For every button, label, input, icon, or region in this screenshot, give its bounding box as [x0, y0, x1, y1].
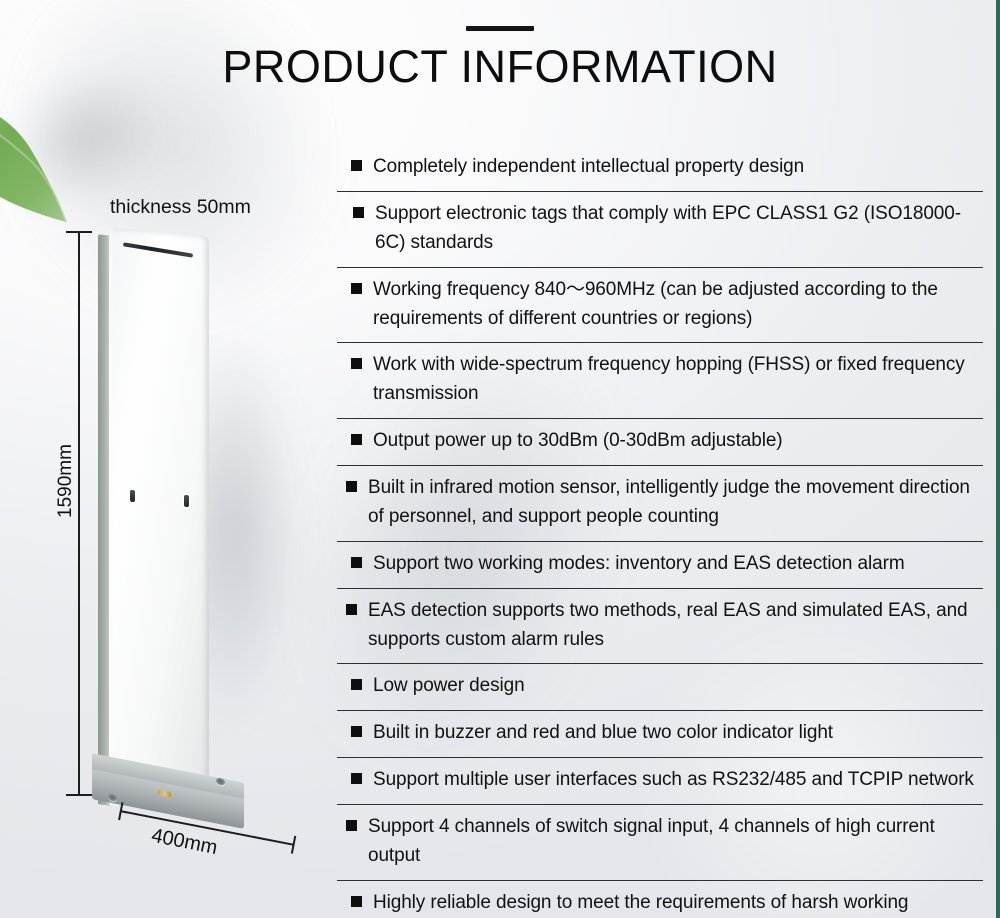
height-dimension-tick-bottom [66, 794, 92, 796]
indicator-led-icon-left [130, 490, 135, 502]
spec-item-text: Low power design [373, 672, 983, 701]
title-divider-icon [466, 26, 534, 31]
square-bullet-icon [351, 160, 362, 171]
spec-item: Built in infrared motion sensor, intelli… [337, 466, 983, 542]
square-bullet-icon [351, 773, 362, 784]
square-bullet-icon [351, 726, 362, 737]
product-information-page: PRODUCT INFORMATION thickness 50mm 1590m… [0, 0, 1000, 918]
square-bullet-icon [353, 207, 364, 218]
spec-item-text: Completely independent intellectual prop… [373, 153, 983, 182]
spec-item-text: Built in infrared motion sensor, intelli… [368, 474, 983, 532]
square-bullet-icon [351, 679, 362, 690]
spec-item: Working frequency 840～960MHz (can be adj… [337, 268, 983, 344]
right-edge-stripe [996, 0, 1000, 918]
spec-item-text: EAS detection supports two methods, real… [368, 597, 983, 655]
square-bullet-icon [346, 604, 357, 615]
spec-item-text: Built in buzzer and red and blue two col… [373, 719, 983, 748]
spec-item: Support electronic tags that comply with… [337, 192, 983, 268]
product-figure: thickness 50mm 1590mm 400mm [30, 190, 330, 870]
square-bullet-icon [351, 283, 362, 294]
specification-list: Completely independent intellectual prop… [337, 145, 983, 918]
spec-item: Built in buzzer and red and blue two col… [337, 711, 983, 758]
spec-item-text: Support electronic tags that comply with… [375, 200, 983, 258]
square-bullet-icon [351, 434, 362, 445]
square-bullet-icon [351, 358, 362, 369]
square-bullet-icon [346, 820, 357, 831]
spec-item: EAS detection supports two methods, real… [337, 589, 983, 665]
height-dimension-line [78, 232, 80, 796]
height-dimension-label: 1590mm [55, 421, 77, 541]
spec-item-text: Highly reliable design to meet the requi… [373, 889, 983, 918]
spec-item-text: Support multiple user interfaces such as… [373, 766, 983, 795]
indicator-led-icon-right [184, 495, 189, 507]
square-bullet-icon [351, 896, 362, 907]
spec-item: Support multiple user interfaces such as… [337, 758, 983, 805]
square-bullet-icon [346, 481, 357, 492]
spec-item: Completely independent intellectual prop… [337, 145, 983, 192]
spec-item-text: Working frequency 840～960MHz (can be adj… [373, 276, 983, 334]
page-header: PRODUCT INFORMATION [0, 0, 1000, 90]
width-dimension-cap-right [291, 836, 296, 854]
width-dimension-label: 400mm [149, 825, 219, 860]
square-bullet-icon [351, 557, 362, 568]
panel-front-face [109, 227, 209, 814]
spec-item: Support 4 channels of switch signal inpu… [337, 805, 983, 881]
spec-item: Highly reliable design to meet the requi… [337, 881, 983, 918]
spec-item: Work with wide-spectrum frequency hoppin… [337, 343, 983, 419]
page-title: PRODUCT INFORMATION [0, 43, 1000, 90]
spec-item-text: Work with wide-spectrum frequency hoppin… [373, 351, 983, 409]
spec-item-text: Support two working modes: inventory and… [373, 550, 983, 579]
width-dimension-group: 400mm [109, 810, 303, 904]
spec-item: Output power up to 30dBm (0-30dBm adjust… [337, 419, 983, 466]
thickness-dimension-label: thickness 50mm [110, 196, 330, 219]
spec-item: Low power design [337, 664, 983, 711]
spec-item-text: Output power up to 30dBm (0-30dBm adjust… [373, 427, 983, 456]
spec-item-text: Support 4 channels of switch signal inpu… [368, 813, 983, 871]
spec-item: Support two working modes: inventory and… [337, 542, 983, 589]
